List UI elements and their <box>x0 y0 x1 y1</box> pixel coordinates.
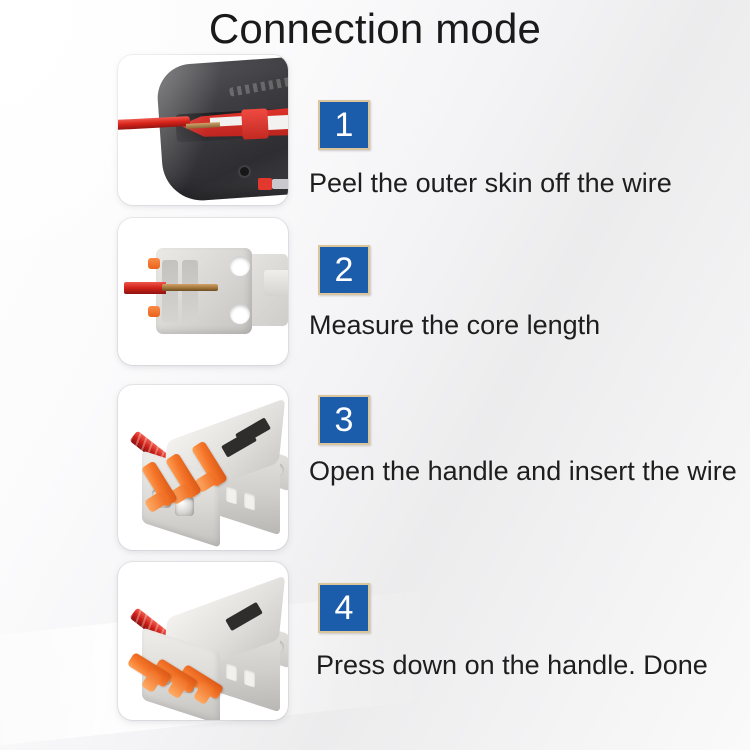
step-4-number-badge: 4 <box>318 583 370 633</box>
connector-test-slot-2-shape <box>244 491 255 511</box>
red-wire-shape <box>124 282 166 294</box>
tool-emboss-text-shape <box>229 73 288 97</box>
tool-red-tab-shape <box>258 178 272 190</box>
step-1-caption: Peel the outer skin off the wire <box>309 166 672 200</box>
tool-gray-tab-shape <box>272 179 288 189</box>
step-3-caption: Open the handle and insert the wire <box>309 454 737 488</box>
step-2-caption: Measure the core length <box>309 308 600 342</box>
connector-groove-2-shape <box>182 260 198 322</box>
tool-pivot-screw-shape <box>240 167 249 176</box>
step-3-number-badge: 3 <box>318 395 370 445</box>
wire-stripper-illustration <box>118 55 288 205</box>
connector-test-slot-2-shape <box>244 668 255 688</box>
step-1-photo <box>118 55 288 205</box>
connector-test-slot-1-shape <box>226 662 237 682</box>
step-4-caption: Press down on the handle. Done <box>316 648 708 682</box>
connector-tab-shape <box>264 270 288 296</box>
connector-hole-bottom-shape <box>230 304 250 324</box>
tool-blade-secondary-shape <box>268 114 288 130</box>
step-1-number-badge: 1 <box>318 100 370 150</box>
connector-side-view-illustration <box>118 218 288 365</box>
step-row-3: 3 Open the handle and insert the wire <box>0 385 750 553</box>
step-row-1: 1 Peel the outer skin off the wire <box>0 55 750 210</box>
tool-red-block-shape <box>241 108 269 139</box>
step-2-number-badge: 2 <box>318 245 370 295</box>
page-title: Connection mode <box>0 2 750 56</box>
connection-mode-infographic: Connection mode 1 Peel the outer skin of… <box>0 0 750 750</box>
step-4-photo <box>118 562 288 720</box>
step-row-4: 4 Press down on the handle. Done <box>0 562 750 724</box>
connector-lever-bottom-shape <box>148 306 160 317</box>
connector-test-slot-1-shape <box>226 485 237 505</box>
connector-hole-top-shape <box>230 256 250 276</box>
connector-lever-top-shape <box>148 258 160 269</box>
step-3-photo <box>118 385 288 550</box>
copper-core-shape <box>162 284 218 291</box>
step-row-2: 2 Measure the core length <box>0 218 750 368</box>
step-2-photo <box>118 218 288 365</box>
connector-open-illustration <box>118 385 288 550</box>
connector-closed-illustration <box>118 562 288 720</box>
